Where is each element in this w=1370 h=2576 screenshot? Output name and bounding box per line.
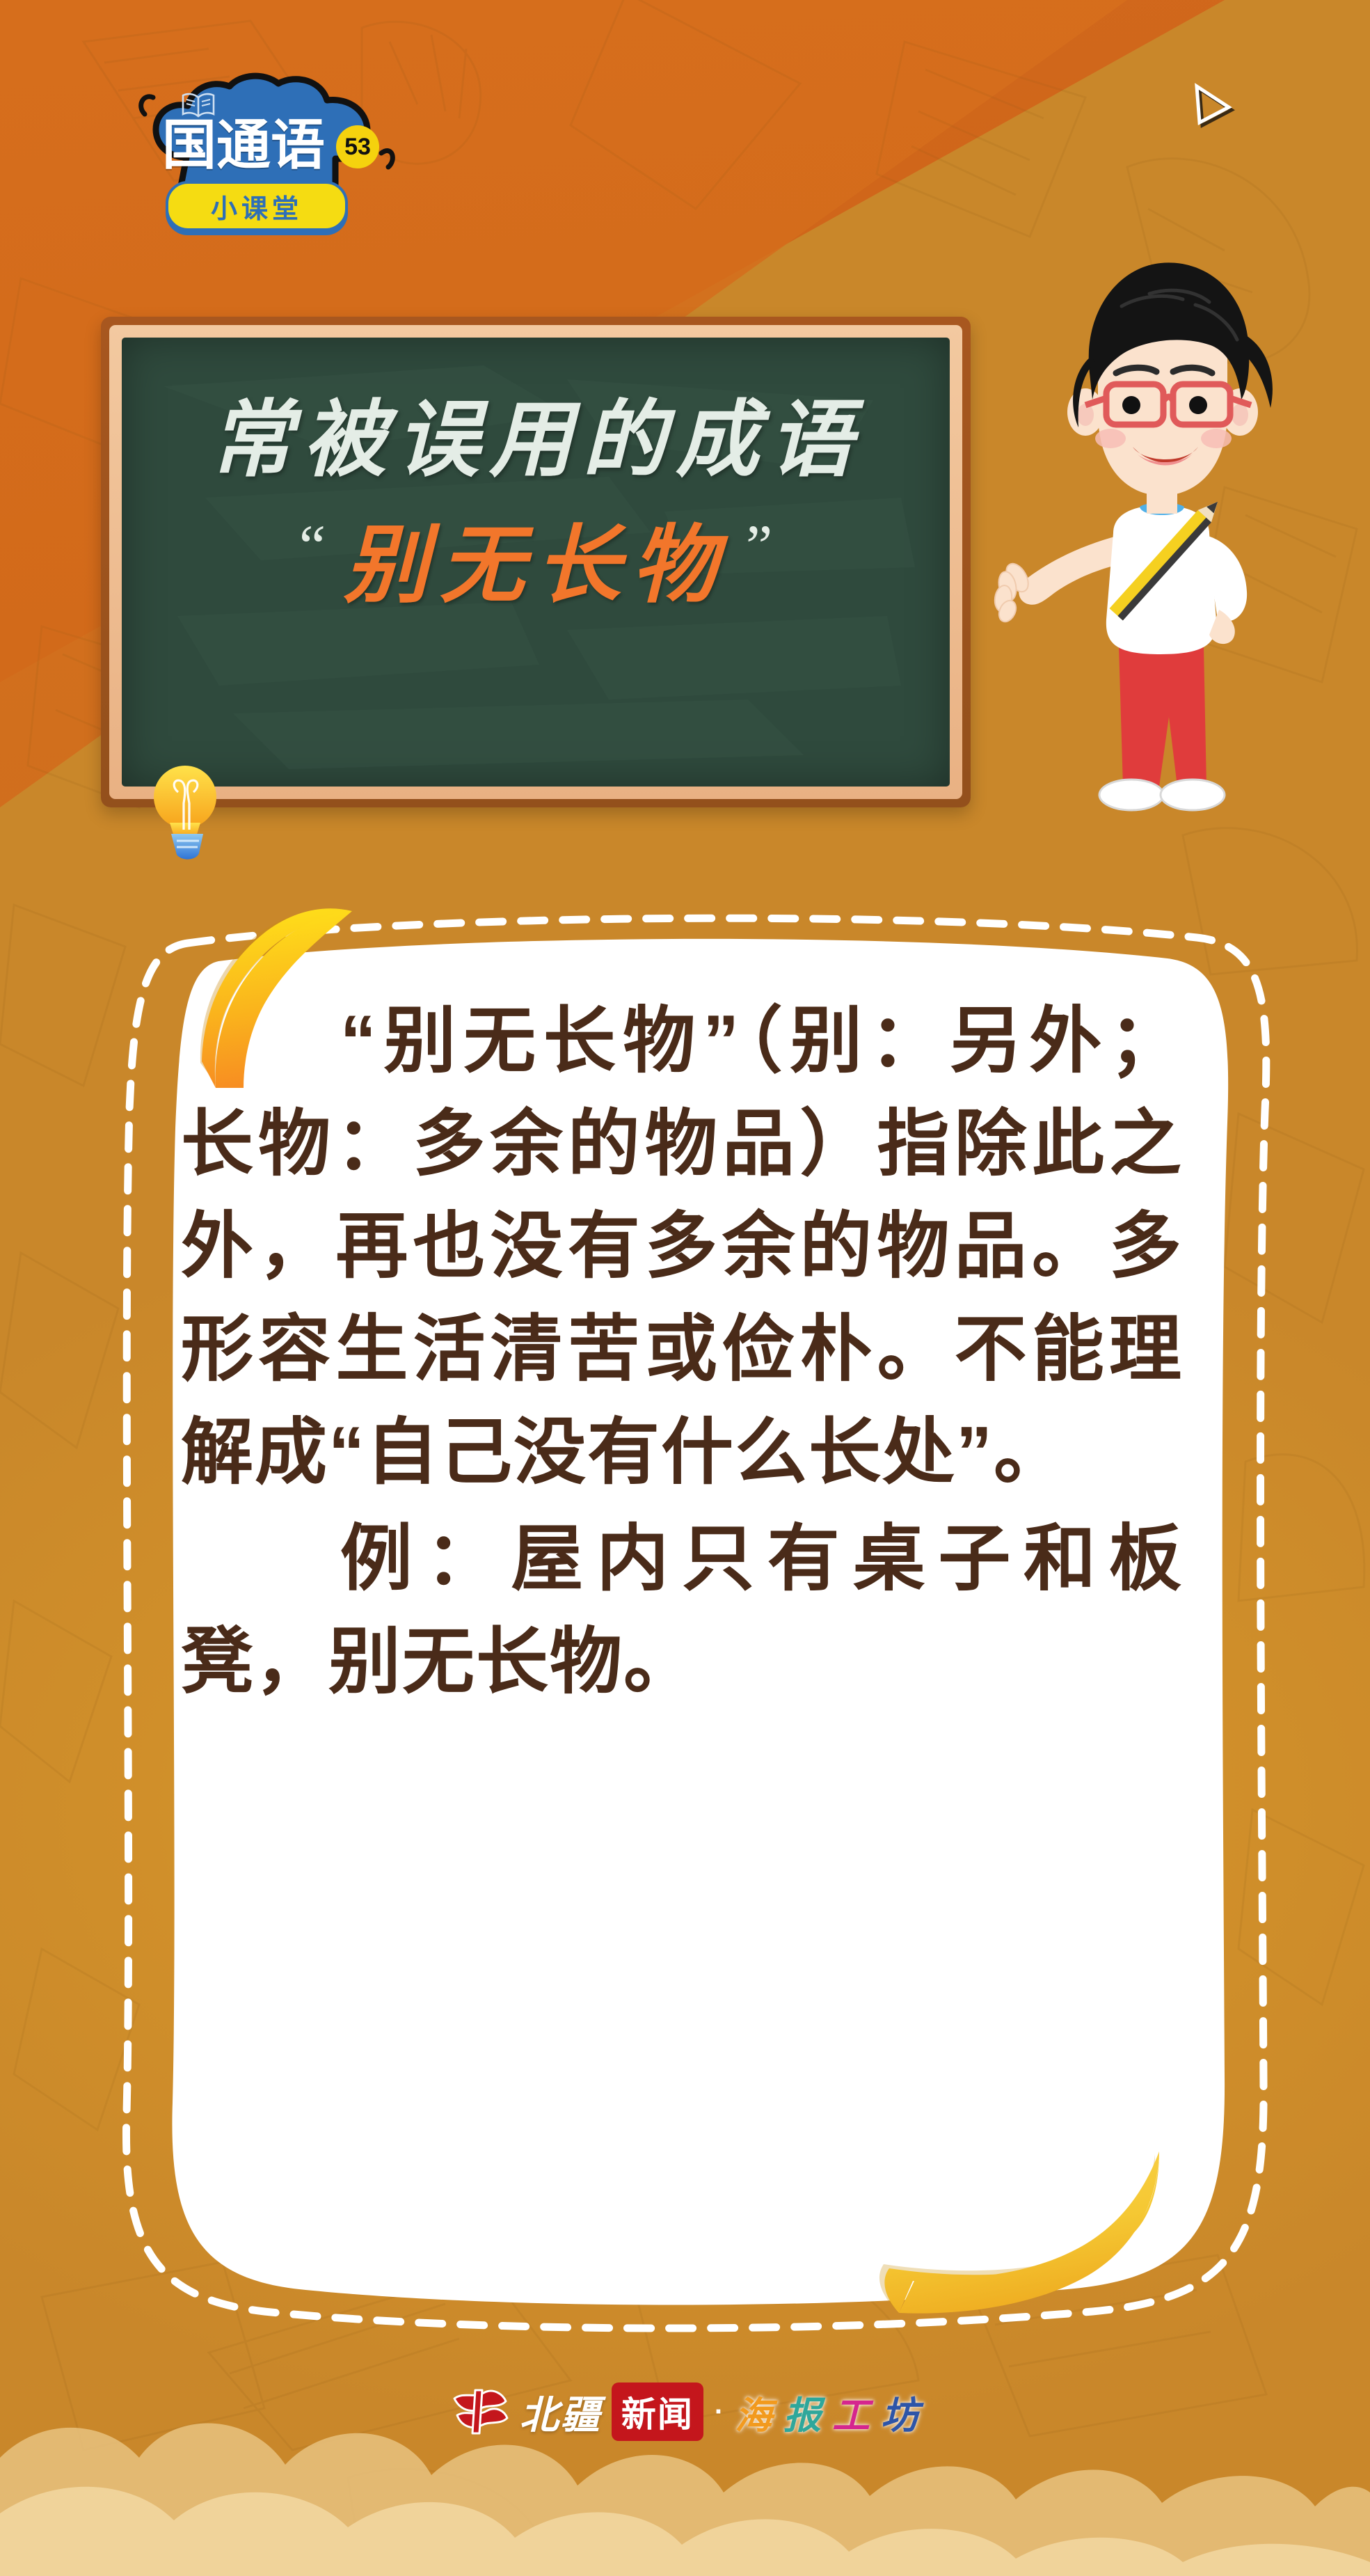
quote-open: “ [299,516,326,576]
blackboard: 常被误用的成语 “ 别无长物 ” [101,317,971,807]
ribbon-curl-bottom-right-icon [856,2147,1183,2356]
footer-brand-bar: 北疆 新闻 · 海 报 工 坊 [0,2363,1370,2460]
card-paragraph-definition: “别无长物”（别：另外；长物：多余的物品）指除此之外，再也没有多余的物品。多形容… [181,990,1183,1504]
footer-studio-char-2: 报 [783,2385,822,2440]
red-flag-logo-icon [450,2387,510,2436]
footer-news-tag: 新闻 [612,2383,703,2441]
program-logo[interactable]: 国通语 53 小课堂 [104,75,411,263]
content-card-zone: “别无长物”（别：另外；长物：多余的物品）指除此之外，再也没有多余的物品。多形容… [104,901,1287,2349]
footer-brand: 北疆 [520,2384,602,2440]
card-body-text: “别无长物”（别：另外；长物：多余的物品）指除此之外，再也没有多余的物品。多形容… [181,990,1183,1718]
blackboard-surface: 常被误用的成语 “ 别无长物 ” [122,338,950,787]
blackboard-idiom: 别无长物 [344,524,728,609]
footer-studio-char-3: 工 [832,2385,871,2440]
blackboard-heading: 常被误用的成语 [122,399,950,482]
blackboard-idiom-row: “ 别无长物 ” [122,524,950,609]
footer-studio-char-1: 海 [735,2385,774,2440]
footer-separator: · [715,2396,724,2428]
quote-close: ” [746,516,772,576]
card-paragraph-example: 例：屋内只有桌子和板凳，别无长物。 [181,1508,1183,1714]
lightbulb-icon [150,759,224,863]
play-triangle-icon [1191,82,1240,131]
footer-studio-char-4: 坊 [881,2385,920,2440]
poster-root: 国通语 53 小课堂 [0,0,1370,2576]
boy-teacher-illustration [974,230,1336,884]
